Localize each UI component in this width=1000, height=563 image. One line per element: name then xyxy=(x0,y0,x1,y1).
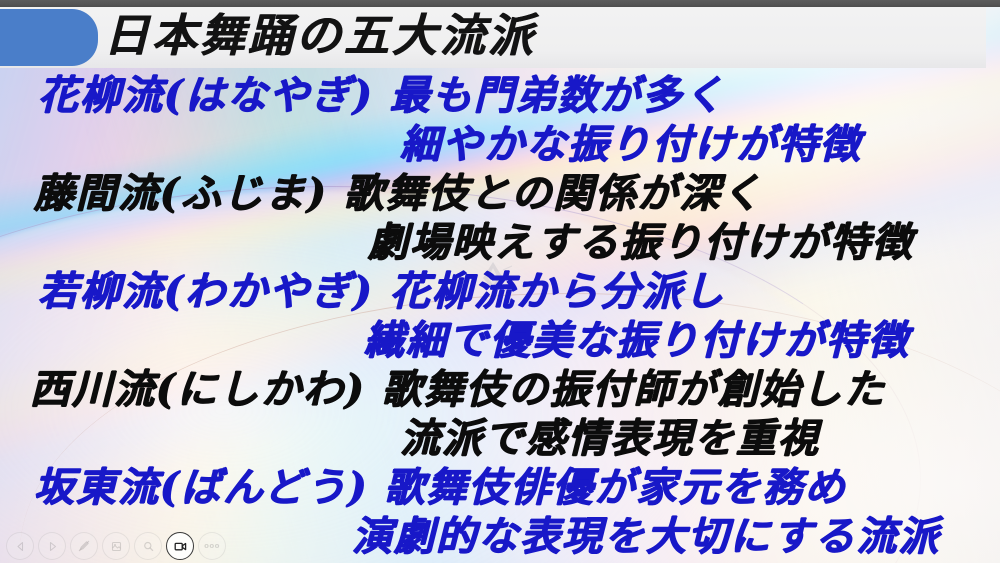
more-options-button[interactable]: ooo xyxy=(198,532,226,560)
title-accent-tab xyxy=(0,9,98,66)
play-icon xyxy=(46,540,59,553)
body-line: 坂東流(ばんどう) 歌舞伎俳優が家元を務め xyxy=(34,468,847,508)
body-line: 細やかな振り付けが特徴 xyxy=(400,125,862,165)
body-line: 劇場映えする振り付けが特徴 xyxy=(368,223,914,263)
body-line: 流派で感情表現を重視 xyxy=(400,419,820,459)
presentation-slide: 日本舞踊の五大流派 花柳流(はなやぎ) 最も門弟数が多く 細やかな振り付けが特徴… xyxy=(0,0,1000,563)
video-record-button[interactable] xyxy=(166,532,194,560)
stamp-button[interactable] xyxy=(102,532,130,560)
video-icon xyxy=(173,539,188,554)
more-options-label: ooo xyxy=(204,542,220,550)
play-button[interactable] xyxy=(38,532,66,560)
search-button[interactable] xyxy=(134,532,162,560)
body-line: 繊細で優美な振り付けが特徴 xyxy=(364,321,910,361)
stamp-icon xyxy=(110,540,123,553)
body-line: 花柳流(はなやぎ) 最も門弟数が多く xyxy=(38,76,726,116)
body-line: 西川流(にしかわ) 歌舞伎の振付師が創始した xyxy=(30,370,886,410)
previous-icon xyxy=(14,540,27,553)
previous-button[interactable] xyxy=(6,532,34,560)
pen-icon xyxy=(77,539,91,553)
page-title: 日本舞踊の五大流派 xyxy=(104,6,536,68)
slide-body: 花柳流(はなやぎ) 最も門弟数が多く 細やかな振り付けが特徴 藤間流(ふじま) … xyxy=(0,68,1000,563)
body-line: 藤間流(ふじま) 歌舞伎との関係が深く xyxy=(34,174,763,214)
playback-toolbar: ooo xyxy=(0,529,1000,563)
pen-button[interactable] xyxy=(70,532,98,560)
window-top-bar xyxy=(0,0,1000,7)
body-line: 若柳流(わかやぎ) 花柳流から分派し xyxy=(38,272,726,312)
search-icon xyxy=(142,540,155,553)
